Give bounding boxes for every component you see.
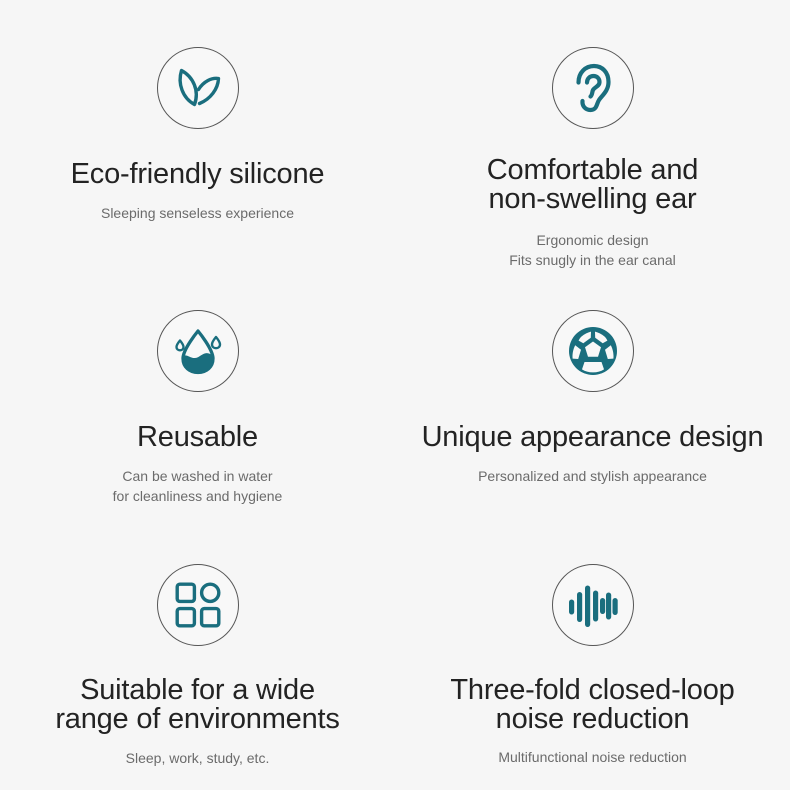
- leaf-icon: [157, 47, 239, 129]
- feature-title: Unique appearance design: [422, 423, 764, 452]
- feature-subtitle: Sleep, work, study, etc.: [126, 748, 270, 768]
- feature-block-wide-range-environments: Suitable for a wide range of environment…: [0, 524, 395, 790]
- grid-squares-icon: [157, 564, 239, 646]
- water-drop-icon: [157, 310, 239, 392]
- feature-block-unique-appearance: Unique appearance design Personalized an…: [395, 262, 790, 524]
- feature-block-noise-reduction: Three-fold closed-loop noise reduction M…: [395, 524, 790, 790]
- feature-title: Comfortable and non-swelling ear: [487, 156, 698, 214]
- sound-wave-icon: [552, 564, 634, 646]
- feature-subtitle: Sleeping senseless experience: [101, 203, 294, 223]
- feature-title: Suitable for a wide range of environment…: [55, 676, 339, 734]
- feature-block-comfortable-ear: Comfortable and non-swelling ear Ergonom…: [395, 0, 790, 262]
- soccer-ball-icon: [552, 310, 634, 392]
- feature-block-eco-friendly-silicone: Eco-friendly silicone Sleeping senseless…: [0, 0, 395, 262]
- feature-title: Eco-friendly silicone: [71, 160, 325, 189]
- feature-grid: Eco-friendly silicone Sleeping senseless…: [0, 0, 790, 790]
- feature-subtitle: Personalized and stylish appearance: [478, 466, 707, 486]
- feature-subtitle: Can be washed in water for cleanliness a…: [113, 466, 283, 507]
- ear-icon: [552, 47, 634, 129]
- feature-block-reusable: Reusable Can be washed in water for clea…: [0, 262, 395, 524]
- feature-subtitle: Multifunctional noise reduction: [498, 747, 686, 767]
- feature-title: Three-fold closed-loop noise reduction: [450, 676, 734, 734]
- feature-title: Reusable: [137, 423, 258, 452]
